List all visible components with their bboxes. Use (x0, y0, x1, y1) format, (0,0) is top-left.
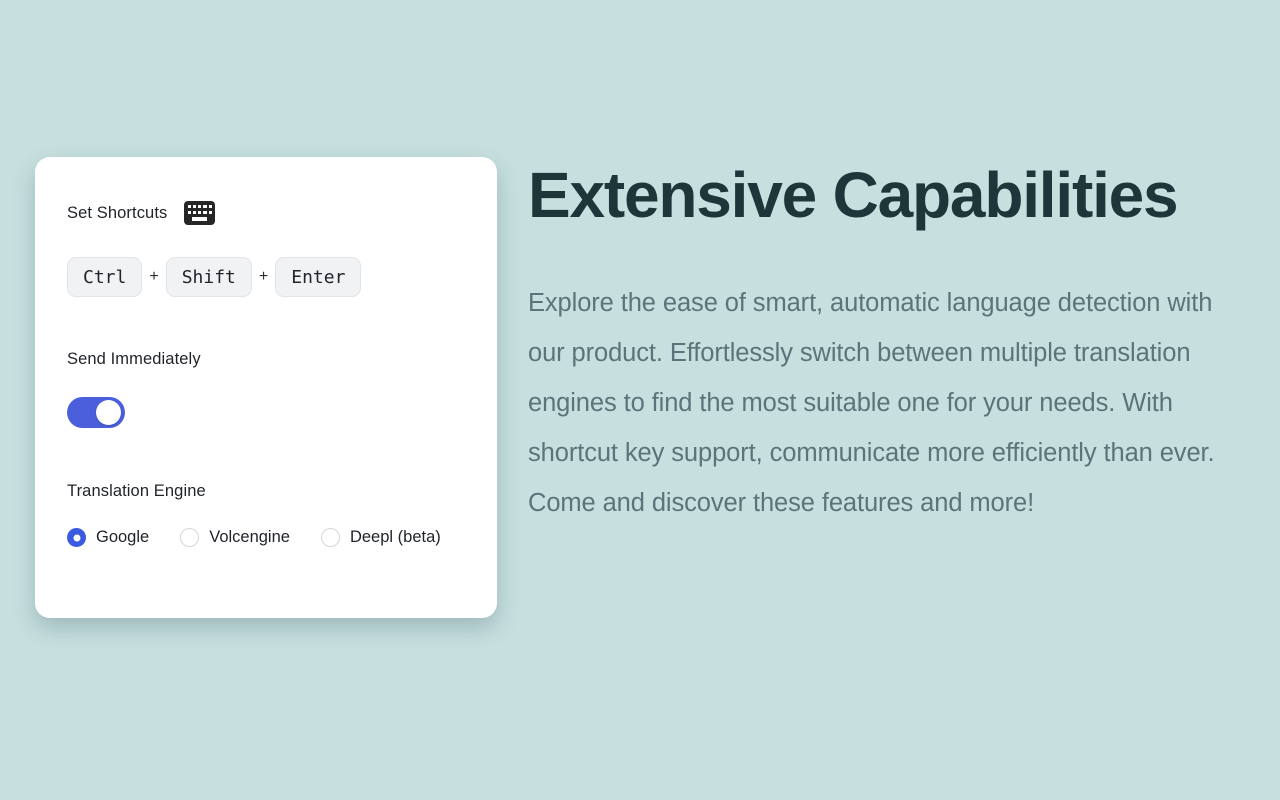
toggle-knob (96, 400, 121, 425)
keyboard-icon (184, 201, 215, 225)
set-shortcuts-label: Set Shortcuts (67, 205, 167, 222)
radio-option-deepl[interactable]: Deepl (beta) (321, 528, 441, 547)
hero-body-text: Explore the ease of smart, automatic lan… (528, 278, 1240, 528)
radio-option-google[interactable]: Google (67, 528, 149, 547)
key-chip-enter[interactable]: Enter (275, 257, 361, 297)
page-root: Set Shortcuts Ctrl + Shift + Enter (0, 0, 1280, 800)
settings-card: Set Shortcuts Ctrl + Shift + Enter (35, 157, 497, 618)
translation-engine-label: Translation Engine (67, 483, 465, 500)
radio-indicator-deepl[interactable] (321, 528, 340, 547)
shortcut-keys-row[interactable]: Ctrl + Shift + Enter (67, 257, 465, 297)
hero-title: Extensive Capabilities (528, 160, 1258, 232)
translation-engine-radio-group[interactable]: Google Volcengine Deepl (beta) (67, 528, 465, 547)
radio-indicator-volcengine[interactable] (180, 528, 199, 547)
hero-section: Extensive Capabilities Explore the ease … (528, 160, 1258, 528)
translation-engine-section: Translation Engine Google Volcengine Dee… (67, 483, 465, 548)
radio-label-deepl: Deepl (beta) (350, 528, 441, 547)
key-separator: + (142, 269, 165, 285)
set-shortcuts-header: Set Shortcuts (67, 200, 465, 226)
radio-label-volcengine: Volcengine (209, 528, 290, 547)
key-chip-ctrl[interactable]: Ctrl (67, 257, 142, 297)
key-separator: + (252, 269, 275, 285)
send-immediately-toggle[interactable] (67, 397, 125, 428)
key-chip-shift[interactable]: Shift (166, 257, 252, 297)
radio-indicator-google[interactable] (67, 528, 86, 547)
send-immediately-section: Send Immediately (67, 351, 465, 428)
radio-label-google: Google (96, 528, 149, 547)
send-immediately-label: Send Immediately (67, 351, 465, 368)
radio-option-volcengine[interactable]: Volcengine (180, 528, 290, 547)
